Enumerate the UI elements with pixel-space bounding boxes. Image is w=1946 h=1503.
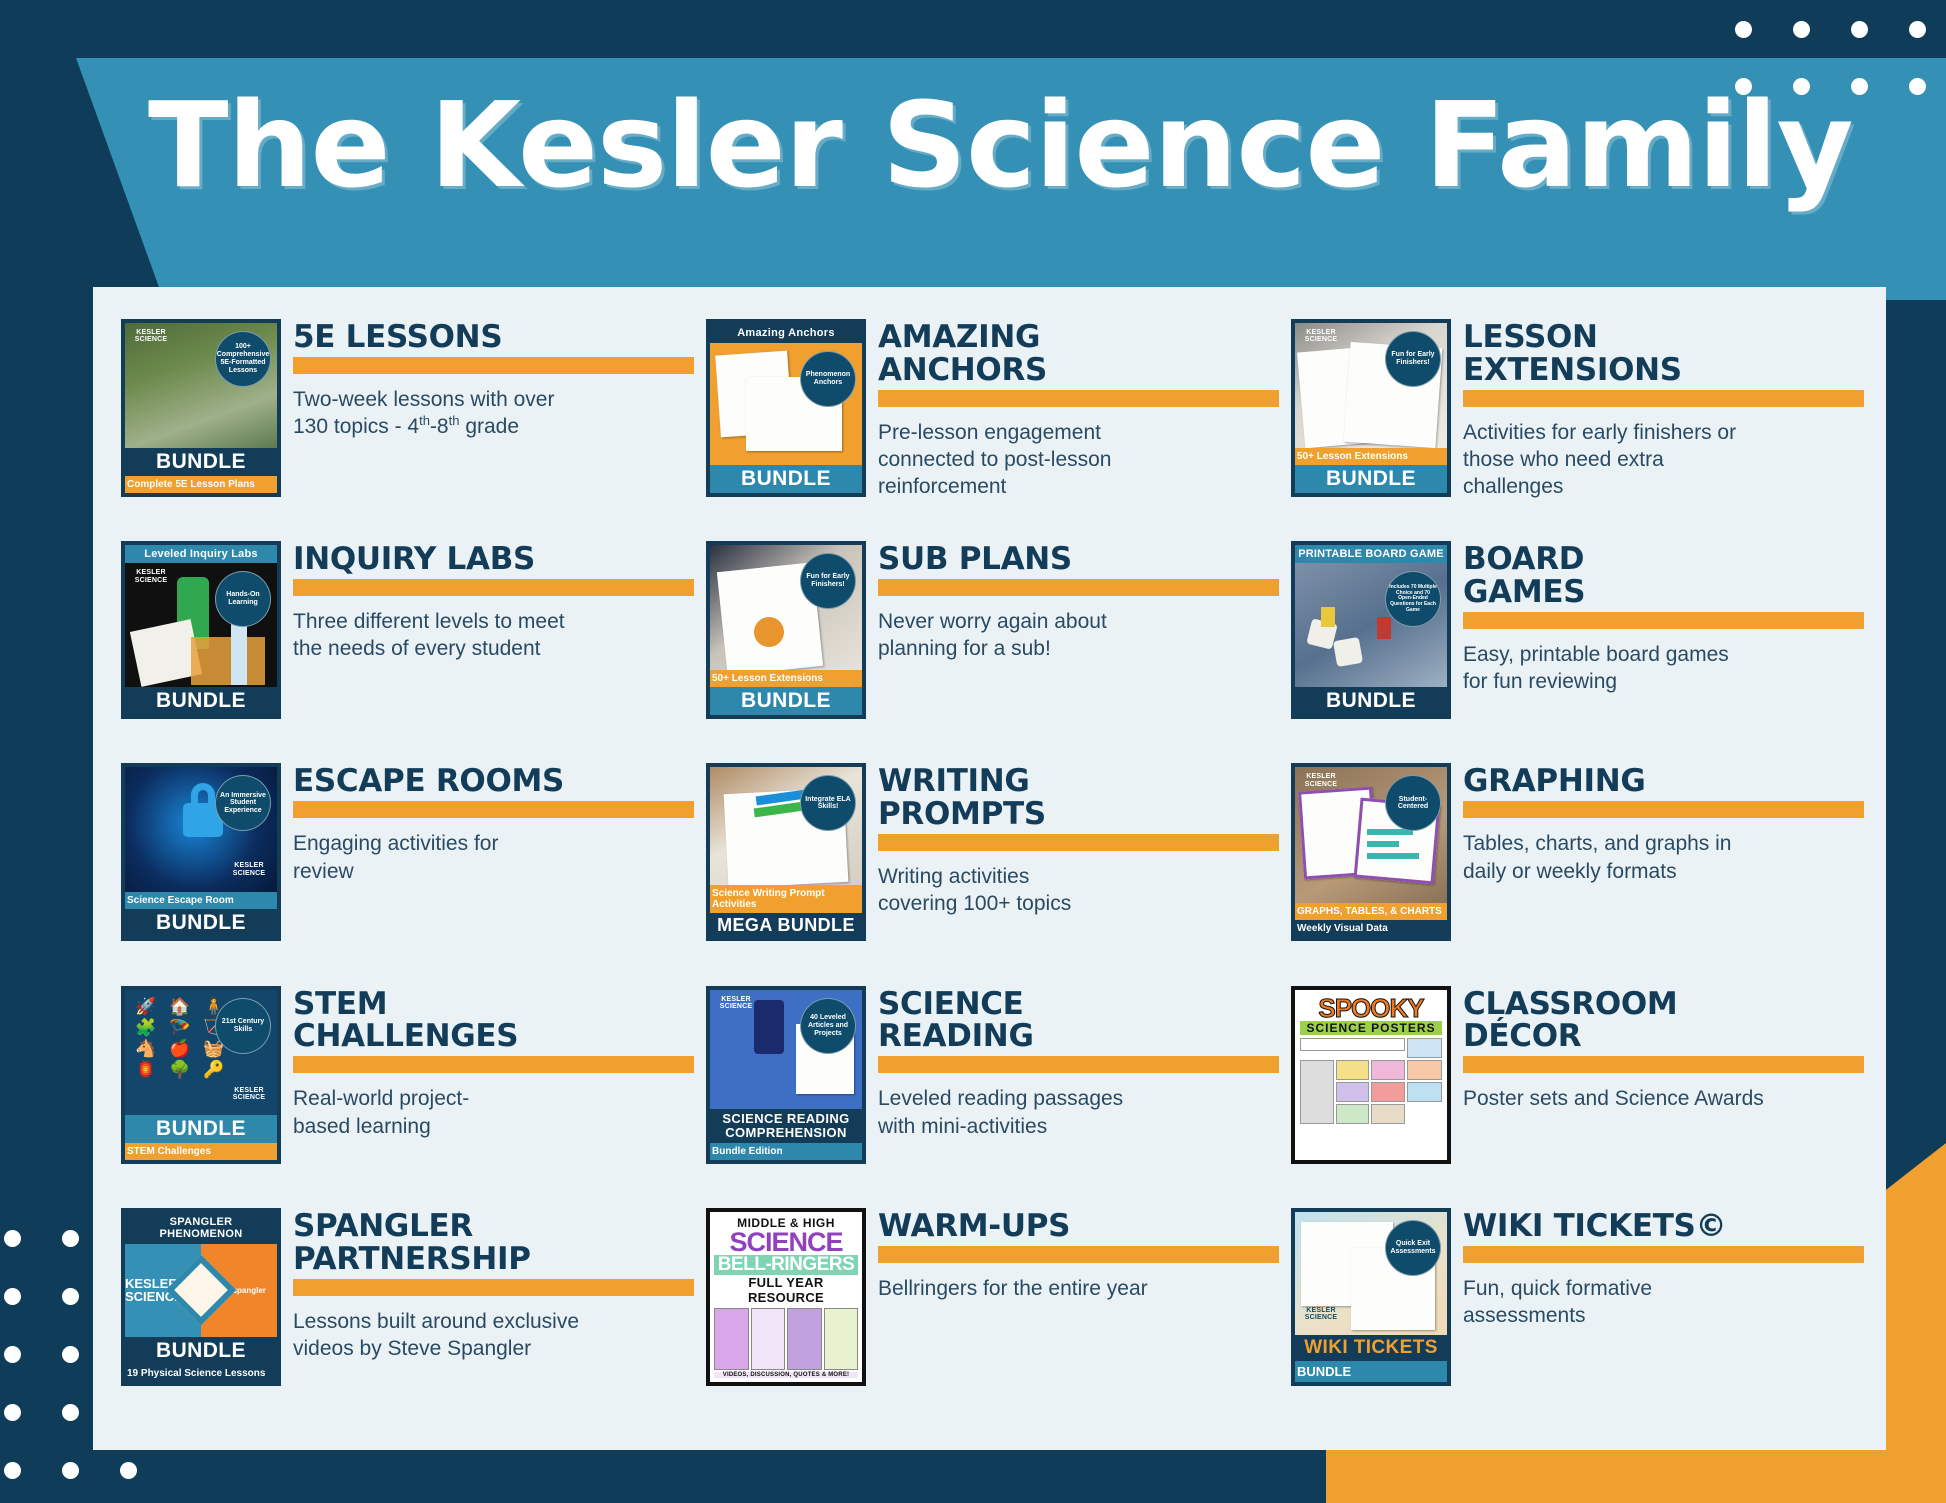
thumbnail-art: Fun for Early Finishers! <box>710 545 862 670</box>
accent-rule <box>293 579 694 596</box>
thumbnail-art: KESLER SCIENCE Hands-On Learning <box>125 563 277 687</box>
product-description: Pre-lesson engagement connected to post-… <box>878 419 1279 501</box>
parachute-icon: 🪂 <box>169 1019 199 1036</box>
thumbnail-art: KESLER SCIENCE Quick Exit Assessments <box>1295 1212 1447 1335</box>
thumbnail-caption: BUNDLE <box>710 687 862 715</box>
thumbnail-top-label: Amazing Anchors <box>710 323 862 343</box>
thumbnail-art: Includes 70 Multiple Choice and 70 Open-… <box>1295 563 1447 687</box>
product-item-wiki-tickets[interactable]: KESLER SCIENCE Quick Exit Assessments WI… <box>1291 1202 1864 1424</box>
product-thumbnail[interactable]: KESLER SCIENCE 40 Leveled Articles and P… <box>706 986 866 1164</box>
tree-icon: 🌳 <box>169 1061 199 1078</box>
product-thumbnail[interactable]: Fun for Early Finishers! 50+ Lesson Exte… <box>706 541 866 719</box>
product-text: WIKI TICKETS© Fun, quick formative asses… <box>1463 1208 1864 1329</box>
thumbnail-caption: BUNDLE <box>125 909 277 937</box>
kesler-science-logo-icon: KESLER SCIENCE <box>1301 1307 1341 1327</box>
product-name: SCIENCE READING <box>878 988 1279 1054</box>
thumbnail-subcaption: Weekly Visual Data <box>1295 920 1447 937</box>
product-name: AMAZING ANCHORS <box>878 321 1279 387</box>
lighthouse-icon: 🏮 <box>135 1061 165 1078</box>
thumbnail-subcaption: VIDEOS, DISCUSSION, QUOTES & MORE! <box>714 1372 858 1378</box>
thumbnail-art: 🚀 🏠 🧍 🧩 🪂 🏹 🐴 🍎 🧺 🏮 🌳 🔑 KESLER SCIE <box>125 990 277 1115</box>
product-thumbnail[interactable]: Integrate ELA Skills! Science Writing Pr… <box>706 763 866 941</box>
product-item-graphing[interactable]: KESLER SCIENCE Student-Centered GRAPHS, … <box>1291 757 1864 979</box>
product-text: CLASSROOM DÉCOR Poster sets and Science … <box>1463 986 1864 1113</box>
product-text: STEM CHALLENGES Real-world project- base… <box>293 986 694 1140</box>
product-name: LESSON EXTENSIONS <box>1463 321 1864 387</box>
product-description: Fun, quick formative assessments <box>1463 1275 1864 1330</box>
accent-rule <box>1463 612 1864 629</box>
thumbnail-caption: BUNDLE <box>125 448 277 476</box>
product-item-stem-challenges[interactable]: 🚀 🏠 🧍 🧩 🪂 🏹 🐴 🍎 🧺 🏮 🌳 🔑 KESLER SCIE <box>121 980 694 1202</box>
product-item-spangler-partnership[interactable]: SPANGLER PHENOMENON KESLER SCIENCE steve… <box>121 1202 694 1424</box>
product-description: Tables, charts, and graphs in daily or w… <box>1463 830 1864 885</box>
accent-rule <box>293 357 694 374</box>
thumbnail-subcaption: Complete 5E Lesson Plans <box>125 476 277 493</box>
background-navy-top-strip <box>0 0 1946 58</box>
product-description: Poster sets and Science Awards <box>1463 1085 1864 1112</box>
thumbnail-art: KESLER SCIENCE Fun for Early Finishers! <box>1295 323 1447 448</box>
thumbnail-caption: WIKI TICKETS <box>1295 1335 1447 1361</box>
thumbnail-badge: Quick Exit Assessments <box>1385 1220 1441 1276</box>
apple-icon: 🍎 <box>169 1040 199 1057</box>
thumbnail-badge: 40 Leveled Articles and Projects <box>800 998 856 1054</box>
product-description: Lessons built around exclusive videos by… <box>293 1308 694 1363</box>
thumbnail-top-label: Leveled Inquiry Labs <box>125 545 277 563</box>
product-grid: KESLER SCIENCE 100+ Comprehensive 5E-For… <box>93 287 1886 1450</box>
thumbnail-subcaption: 50+ Lesson Extensions <box>710 670 862 687</box>
maze-icon: 🧩 <box>135 1019 165 1036</box>
product-thumbnail[interactable]: KESLER SCIENCE Fun for Early Finishers! … <box>1291 319 1451 497</box>
cover-line-2: SCIENCE <box>714 1230 858 1256</box>
rocket-icon: 🚀 <box>135 998 165 1015</box>
accent-rule <box>878 579 1279 596</box>
product-item-lesson-extensions[interactable]: KESLER SCIENCE Fun for Early Finishers! … <box>1291 313 1864 535</box>
product-text: BOARD GAMES Easy, printable board games … <box>1463 541 1864 695</box>
product-text: WRITING PROMPTS Writing activities cover… <box>878 763 1279 917</box>
thumbnail-subcaption: Science Escape Room <box>125 892 277 909</box>
product-item-sub-plans[interactable]: Fun for Early Finishers! 50+ Lesson Exte… <box>706 535 1279 757</box>
product-name: WRITING PROMPTS <box>878 765 1279 831</box>
product-description: Real-world project- based learning <box>293 1085 694 1140</box>
thumbnail-caption: BUNDLE <box>1295 465 1447 493</box>
thumbnail-art: KESLER SCIENCE 40 Leveled Articles and P… <box>710 990 862 1110</box>
thumbnail-art: KESLER SCIENCE 100+ Comprehensive 5E-For… <box>125 323 277 448</box>
kesler-science-logo-icon: KESLER SCIENCE <box>131 569 171 589</box>
product-description: Easy, printable board games for fun revi… <box>1463 641 1864 696</box>
kesler-science-logo-icon: KESLER SCIENCE <box>229 862 269 882</box>
thumbnail-caption: BUNDLE <box>125 1115 277 1143</box>
product-thumbnail[interactable]: PRINTABLE BOARD GAME Includes 70 Multipl… <box>1291 541 1451 719</box>
poster-subtitle: SCIENCE POSTERS <box>1300 1021 1442 1035</box>
product-text: 5E LESSONS Two-week lessons with over130… <box>293 319 694 440</box>
product-description: Writing activities covering 100+ topics <box>878 863 1279 918</box>
product-item-board-games[interactable]: PRINTABLE BOARD GAME Includes 70 Multipl… <box>1291 535 1864 757</box>
product-name: ESCAPE ROOMS <box>293 765 694 798</box>
product-description: Two-week lessons with over130 topics - 4… <box>293 386 694 441</box>
accent-rule <box>1463 1056 1864 1073</box>
product-item-5e-lessons[interactable]: KESLER SCIENCE 100+ Comprehensive 5E-For… <box>121 313 694 535</box>
product-text: LESSON EXTENSIONS Activities for early f… <box>1463 319 1864 501</box>
thumbnail-badge: Hands-On Learning <box>215 571 271 627</box>
thumbnail-badge: Fun for Early Finishers! <box>800 553 856 609</box>
kesler-science-logo-icon: KESLER SCIENCE <box>131 329 171 349</box>
product-name: INQUIRY LABS <box>293 543 694 576</box>
thumbnail-subcaption: Science Writing Prompt Activities <box>710 885 862 913</box>
accent-rule <box>878 1246 1279 1263</box>
thumbnail-badge: Integrate ELA Skills! <box>800 775 856 831</box>
product-name: SPANGLER PARTNERSHIP <box>293 1210 694 1276</box>
product-thumbnail[interactable]: SPOOKY SCIENCE POSTERS <box>1291 986 1451 1164</box>
product-thumbnail[interactable]: MIDDLE & HIGH SCIENCE BELL-RINGERS FULL … <box>706 1208 866 1386</box>
thumbnail-art: KESLER SCIENCE stevespangler <box>125 1244 277 1337</box>
thumbnail-badge: 100+ Comprehensive 5E-Formatted Lessons <box>215 331 271 387</box>
accent-rule <box>1463 1246 1864 1263</box>
product-description: Activities for early finishers or those … <box>1463 419 1864 501</box>
thumbnail-art: Integrate ELA Skills! <box>710 767 862 884</box>
accent-rule <box>878 834 1279 851</box>
thumbnail-subcaption: 50+ Lesson Extensions <box>1295 448 1447 465</box>
thumbnail-subcaption: 19 Physical Science Lessons <box>125 1365 277 1382</box>
cover-line-4: FULL YEAR RESOURCE <box>714 1275 858 1305</box>
thumbnail-badge: Student-Centered <box>1385 775 1441 831</box>
horse-icon: 🐴 <box>135 1040 165 1057</box>
product-text: WARM-UPS Bellringers for the entire year <box>878 1208 1279 1302</box>
product-thumbnail[interactable]: SPANGLER PHENOMENON KESLER SCIENCE steve… <box>121 1208 281 1386</box>
product-description: Leveled reading passages with mini-activ… <box>878 1085 1279 1140</box>
product-item-inquiry-labs[interactable]: Leveled Inquiry Labs KESLER SCIENCE Hand… <box>121 535 694 757</box>
product-name: WARM-UPS <box>878 1210 1279 1243</box>
product-thumbnail[interactable]: KESLER SCIENCE Quick Exit Assessments WI… <box>1291 1208 1451 1386</box>
product-item-classroom-decor[interactable]: SPOOKY SCIENCE POSTERS <box>1291 980 1864 1202</box>
accent-rule <box>293 1056 694 1073</box>
thumbnail-art: KESLER SCIENCE Student-Centered <box>1295 767 1447 903</box>
product-thumbnail[interactable]: KESLER SCIENCE Student-Centered GRAPHS, … <box>1291 763 1451 941</box>
product-text: AMAZING ANCHORS Pre-lesson engagement co… <box>878 319 1279 501</box>
product-item-science-reading[interactable]: KESLER SCIENCE 40 Leveled Articles and P… <box>706 980 1279 1202</box>
product-item-writing-prompts[interactable]: Integrate ELA Skills! Science Writing Pr… <box>706 757 1279 979</box>
background-orange-bottom-bar <box>1326 1441 1946 1503</box>
thumbnail-caption: BUNDLE <box>710 465 862 493</box>
product-text: ESCAPE ROOMS Engaging activities for rev… <box>293 763 694 884</box>
accent-rule <box>293 1279 694 1296</box>
product-text: SCIENCE READING Leveled reading passages… <box>878 986 1279 1140</box>
product-name: SUB PLANS <box>878 543 1279 576</box>
product-name: WIKI TICKETS© <box>1463 1210 1864 1243</box>
product-thumbnail[interactable]: Amazing Anchors Phenomenon Anchors BUNDL… <box>706 319 866 497</box>
product-description: Never worry again about planning for a s… <box>878 608 1279 663</box>
product-name: 5E LESSONS <box>293 321 694 354</box>
accent-rule <box>293 801 694 818</box>
product-thumbnail[interactable]: KESLER SCIENCE An Immersive Student Expe… <box>121 763 281 941</box>
product-thumbnail[interactable]: 🚀 🏠 🧍 🧩 🪂 🏹 🐴 🍎 🧺 🏮 🌳 🔑 KESLER SCIE <box>121 986 281 1164</box>
product-text: INQUIRY LABS Three different levels to m… <box>293 541 694 662</box>
product-name: BOARD GAMES <box>1463 543 1864 609</box>
accent-rule <box>1463 390 1864 407</box>
poster-title: SPOOKY <box>1300 995 1442 1021</box>
product-description: Bellringers for the entire year <box>878 1275 1279 1302</box>
thumbnail-top-label: SPANGLER PHENOMENON <box>125 1212 277 1244</box>
thumbnail-badge: Includes 70 Multiple Choice and 70 Open-… <box>1385 571 1441 627</box>
thumbnail-caption: MEGA BUNDLE <box>710 913 862 938</box>
thumbnail-art: KESLER SCIENCE An Immersive Student Expe… <box>125 767 277 892</box>
thumbnail-caption: SCIENCE READING COMPREHENSION <box>710 1109 862 1142</box>
thumbnail-caption: BUNDLE <box>125 687 277 715</box>
kesler-science-logo-icon: KESLER SCIENCE <box>1301 329 1341 349</box>
thumbnail-badge: 21st Century Skills <box>215 998 271 1054</box>
accent-rule <box>878 1056 1279 1073</box>
product-description: Three different levels to meet the needs… <box>293 608 694 663</box>
product-name: STEM CHALLENGES <box>293 988 694 1054</box>
thumbnail-art: Phenomenon Anchors <box>710 343 862 465</box>
product-description: Engaging activities for review <box>293 830 694 885</box>
cover-line-3: BELL-RINGERS <box>714 1255 858 1275</box>
thumbnail-caption: BUNDLE <box>1295 687 1447 715</box>
key-icon: 🔑 <box>203 1061 233 1078</box>
thumbnail-subcaption: BUNDLE <box>1295 1361 1447 1382</box>
product-text: SUB PLANS Never worry again about planni… <box>878 541 1279 662</box>
thumbnail-top-label: PRINTABLE BOARD GAME <box>1295 545 1447 563</box>
thumbnail-art: SPOOKY SCIENCE POSTERS <box>1295 990 1447 1160</box>
accent-rule <box>1463 801 1864 818</box>
kesler-science-logo-icon: KESLER SCIENCE <box>229 1087 269 1107</box>
product-thumbnail[interactable]: KESLER SCIENCE 100+ Comprehensive 5E-For… <box>121 319 281 497</box>
thumbnail-subcaption: Bundle Edition <box>710 1143 862 1160</box>
birdhouse-icon: 🏠 <box>169 998 199 1015</box>
product-text: GRAPHING Tables, charts, and graphs in d… <box>1463 763 1864 884</box>
thumbnail-subcaption: STEM Challenges <box>125 1143 277 1160</box>
page-title: The Kesler Science Family <box>148 86 1853 204</box>
thumbnail-caption: GRAPHS, TABLES, & CHARTS <box>1295 903 1447 920</box>
accent-rule <box>878 390 1279 407</box>
product-item-warm-ups[interactable]: MIDDLE & HIGH SCIENCE BELL-RINGERS FULL … <box>706 1202 1279 1424</box>
product-name: GRAPHING <box>1463 765 1864 798</box>
thumbnail-badge: Fun for Early Finishers! <box>1385 331 1441 387</box>
product-item-amazing-anchors[interactable]: Amazing Anchors Phenomenon Anchors BUNDL… <box>706 313 1279 535</box>
product-item-escape-rooms[interactable]: KESLER SCIENCE An Immersive Student Expe… <box>121 757 694 979</box>
content-card: KESLER SCIENCE 100+ Comprehensive 5E-For… <box>93 287 1886 1450</box>
product-name: CLASSROOM DÉCOR <box>1463 988 1864 1054</box>
thumbnail-caption: BUNDLE <box>125 1337 277 1365</box>
product-thumbnail[interactable]: Leveled Inquiry Labs KESLER SCIENCE Hand… <box>121 541 281 719</box>
product-text: SPANGLER PARTNERSHIP Lessons built aroun… <box>293 1208 694 1362</box>
thumbnail-badge: An Immersive Student Experience <box>215 775 271 831</box>
kesler-science-logo-icon: KESLER SCIENCE <box>716 996 756 1016</box>
thumbnail-art: MIDDLE & HIGH SCIENCE BELL-RINGERS FULL … <box>710 1212 862 1382</box>
thumbnail-badge: Phenomenon Anchors <box>800 351 856 407</box>
